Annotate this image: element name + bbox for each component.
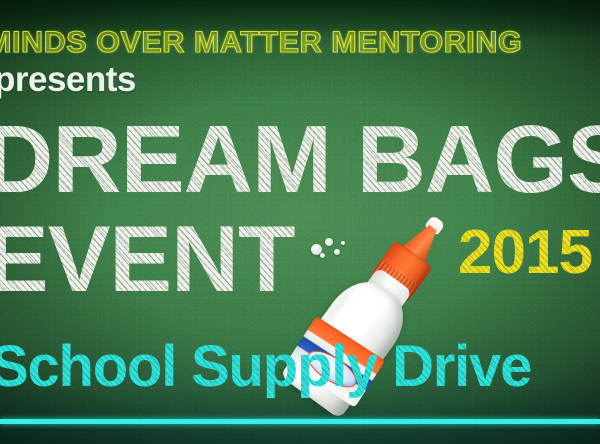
title-line-1: DREAM BAGS: [0, 112, 600, 208]
organization-name: MINDS OVER MATTER MENTORING: [0, 28, 522, 58]
glue-drop: [334, 249, 340, 255]
glue-drop: [320, 253, 325, 258]
tagline-group: School Supply Drive School Supply Drive: [0, 338, 531, 396]
glue-drop: [341, 241, 345, 245]
title-line-1-group: DREAM BAGS DREAM BAGS: [0, 112, 600, 208]
event-poster: MINDS OVER MATTER MENTORING presents DRE…: [0, 0, 600, 444]
bottom-accent-rule: [0, 419, 600, 424]
title-line-2: EVENT: [0, 212, 294, 306]
tagline-text: School Supply Drive: [0, 338, 531, 396]
year-label: 2015: [458, 222, 592, 284]
title-line-2-group: EVENT EVENT: [0, 212, 294, 306]
glue-drop: [325, 238, 333, 246]
year-group: 2015 2015: [458, 222, 592, 284]
presents-label: presents: [0, 62, 136, 97]
